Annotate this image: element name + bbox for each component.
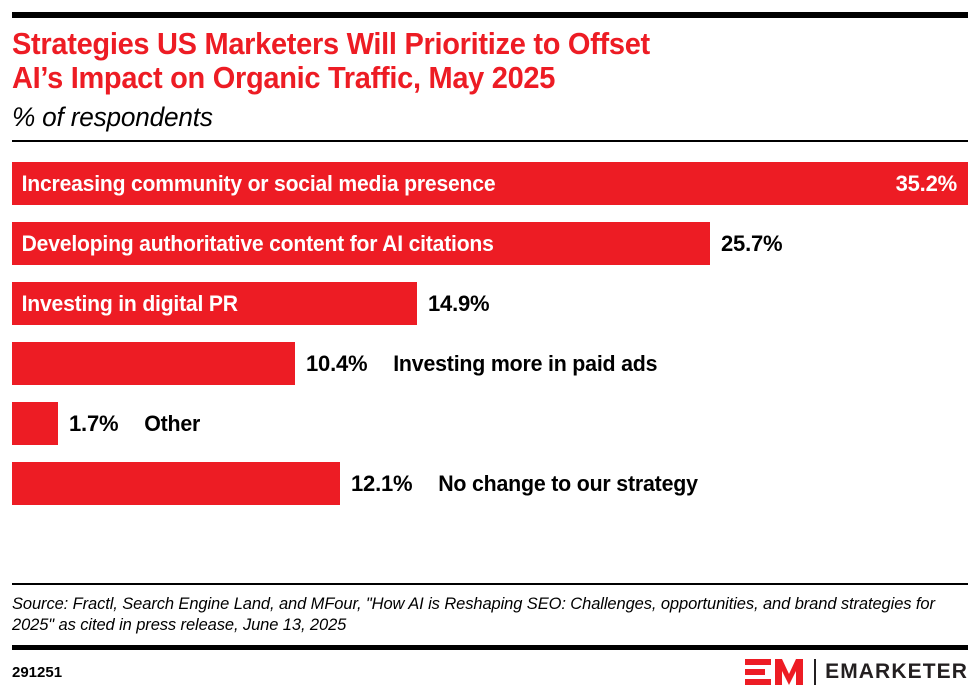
em-monogram-icon	[745, 657, 805, 687]
logo-divider	[814, 659, 816, 685]
bar-row: 10.4% Investing more in paid ads	[12, 342, 968, 385]
chart-footer: Source: Fractl, Search Engine Land, and …	[12, 583, 968, 694]
chart-id: 291251	[12, 664, 62, 681]
bar-2-category-label: Developing authoritative content for AI …	[12, 231, 494, 257]
bar-3-category-label: Investing in digital PR	[12, 291, 238, 317]
bar-1-category-label: Increasing community or social media pre…	[12, 171, 495, 197]
bar-3[interactable]: Investing in digital PR	[12, 282, 417, 325]
logo-wordmark: EMARKETER	[825, 660, 968, 684]
bar-1-value-label: 35.2%	[896, 171, 968, 197]
bar-chart-plot-area: Increasing community or social media pre…	[12, 142, 968, 505]
bar-5-value-label: 1.7%	[58, 411, 118, 437]
bar-4-category-label: Investing more in paid ads	[367, 351, 657, 377]
chart-container: Strategies US Marketers Will Prioritize …	[0, 12, 980, 694]
bar-2[interactable]: Developing authoritative content for AI …	[12, 222, 710, 265]
bar-1[interactable]: Increasing community or social media pre…	[12, 162, 968, 205]
bar-6-value-label: 12.1%	[340, 471, 412, 497]
bar-3-value-label: 14.9%	[417, 291, 489, 317]
bar-4[interactable]	[12, 342, 295, 385]
source-note: Source: Fractl, Search Engine Land, and …	[12, 585, 968, 645]
bar-row: Developing authoritative content for AI …	[12, 222, 968, 265]
footer-bottom-bar: 291251 EMARKETER	[12, 650, 968, 694]
chart-header: Strategies US Marketers Will Prioritize …	[12, 18, 968, 133]
bar-2-value-label: 25.7%	[710, 231, 782, 257]
bar-5[interactable]	[12, 402, 58, 445]
bar-6[interactable]	[12, 462, 340, 505]
bar-4-outside-group: 10.4% Investing more in paid ads	[295, 342, 667, 385]
bar-6-outside-group: 12.1% No change to our strategy	[340, 462, 707, 505]
bar-row: Increasing community or social media pre…	[12, 162, 968, 205]
emarketer-logo[interactable]: EMARKETER	[745, 657, 968, 687]
chart-subtitle: % of respondents	[12, 101, 939, 133]
bar-5-outside-group: 1.7% Other	[58, 402, 203, 445]
bar-row: Investing in digital PR 14.9%	[12, 282, 968, 325]
bar-2-outside-group: 25.7%	[710, 222, 782, 265]
title-line-1: Strategies US Marketers Will Prioritize …	[12, 27, 920, 61]
title-line-2: AI’s Impact on Organic Traffic, May 2025	[12, 61, 920, 95]
bar-row: 1.7% Other	[12, 402, 968, 445]
bar-row: 12.1% No change to our strategy	[12, 462, 968, 505]
bar-4-value-label: 10.4%	[295, 351, 367, 377]
bar-3-outside-group: 14.9%	[417, 282, 489, 325]
bar-6-category-label: No change to our strategy	[412, 471, 698, 497]
bar-5-category-label: Other	[118, 411, 200, 437]
page-title: Strategies US Marketers Will Prioritize …	[12, 27, 920, 95]
